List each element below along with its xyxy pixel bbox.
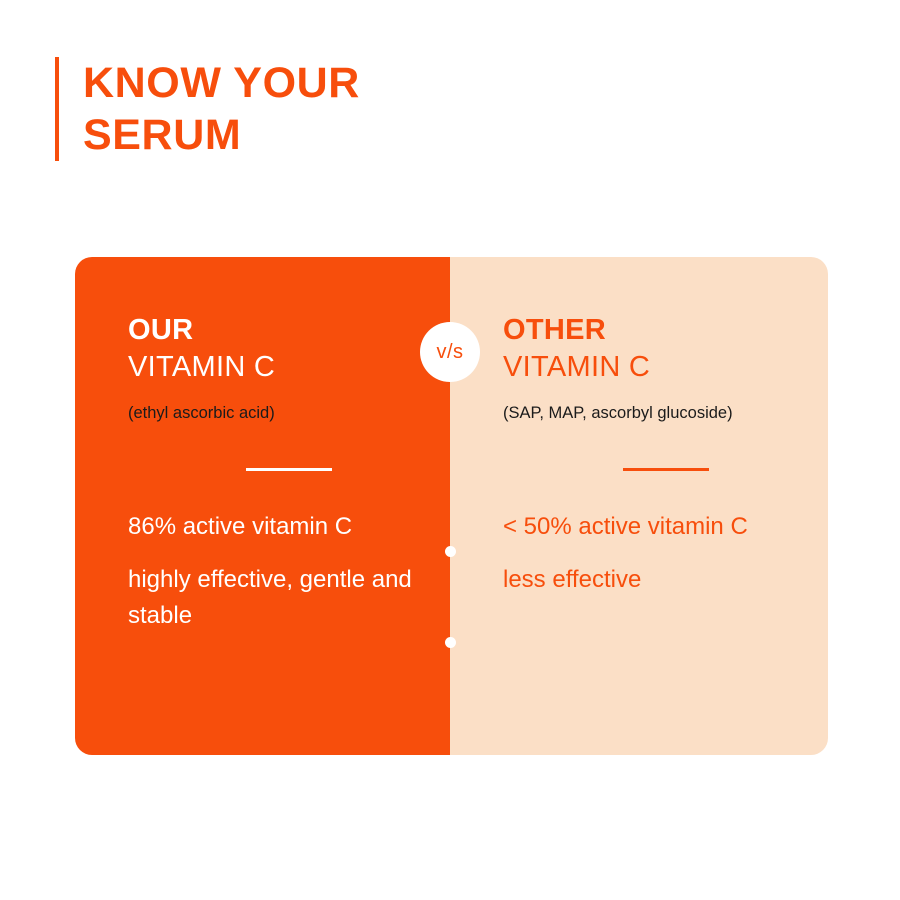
- list-item: < 50% active vitamin C: [503, 509, 803, 545]
- other-title-strong: Other: [503, 312, 828, 348]
- page-title-text: Know Your Serum: [83, 57, 360, 161]
- page-title-line-1: Know Your: [83, 57, 360, 109]
- page-title-line-2: Serum: [83, 109, 360, 161]
- our-title-strong: Our: [128, 312, 450, 348]
- seam-dot-icon: [445, 637, 456, 648]
- title-accent-bar: [55, 57, 59, 161]
- panel-other-vitamin-c: Other Vitamin C (SAP, MAP, ascorbyl gluc…: [450, 257, 828, 755]
- seam-dot-icon: [445, 546, 456, 557]
- other-subtitle: (SAP, MAP, ascorbyl glucoside): [503, 402, 828, 424]
- other-facts-list: < 50% active vitamin C less effective: [503, 509, 828, 598]
- our-subtitle: (ethyl ascorbic acid): [128, 402, 450, 424]
- other-divider-rule: [623, 468, 709, 471]
- versus-badge: v/s: [420, 322, 480, 382]
- our-divider-rule: [246, 468, 332, 471]
- list-item: 86% active vitamin C: [128, 509, 428, 545]
- page-title: Know Your Serum: [55, 57, 360, 161]
- list-item: highly effective, gentle and stable: [128, 562, 428, 634]
- versus-badge-label: v/s: [436, 341, 463, 364]
- other-title-light: Vitamin C: [503, 348, 828, 386]
- list-item: less effective: [503, 562, 803, 598]
- our-facts-list: 86% active vitamin C highly effective, g…: [128, 509, 450, 634]
- panel-our-vitamin-c: Our Vitamin C (ethyl ascorbic acid) 86% …: [75, 257, 450, 755]
- our-title-light: Vitamin C: [128, 348, 450, 386]
